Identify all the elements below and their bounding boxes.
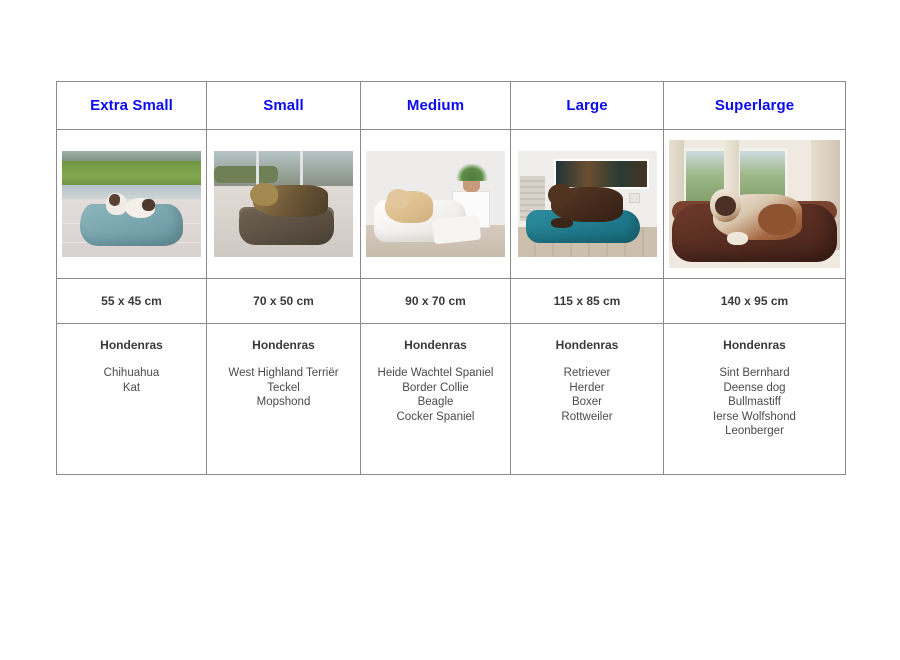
- product-photo-medium: [366, 151, 505, 257]
- header-cell-large: Large: [511, 82, 664, 130]
- dimensions-label: 70 x 50 cm: [207, 294, 360, 308]
- breeds-title: Hondenras: [207, 338, 360, 352]
- header-cell-superlarge: Superlarge: [664, 82, 846, 130]
- breed-item: Rottweiler: [511, 410, 663, 425]
- dimensions-cell-large: 115 x 85 cm: [511, 279, 664, 324]
- photo-cell-small: [207, 130, 361, 279]
- breed-item: Sint Bernhard: [664, 366, 845, 381]
- breeds-list: RetrieverHerderBoxerRottweiler: [511, 366, 663, 424]
- dimensions-cell-small: 70 x 50 cm: [207, 279, 361, 324]
- header-cell-medium: Medium: [361, 82, 511, 130]
- size-header-label: Small: [207, 97, 360, 114]
- breed-item: Chihuahua: [57, 366, 206, 381]
- breed-item: Mopshond: [207, 395, 360, 410]
- table-photo-row: [57, 130, 846, 279]
- table-header-row: Extra Small Small Medium Large Superlarg…: [57, 82, 846, 130]
- breeds-cell-small: Hondenras West Highland TerriërTeckelMop…: [207, 324, 361, 475]
- breed-item: Deense dog: [664, 381, 845, 396]
- breed-item: Retriever: [511, 366, 663, 381]
- dimensions-label: 115 x 85 cm: [511, 294, 663, 308]
- breeds-title: Hondenras: [57, 338, 206, 352]
- dog-bed-size-table: Extra Small Small Medium Large Superlarg…: [56, 81, 846, 475]
- breeds-list: Heide Wachtel SpanielBorder CollieBeagle…: [361, 366, 510, 424]
- breeds-title: Hondenras: [664, 338, 845, 352]
- table-dimensions-row: 55 x 45 cm 70 x 50 cm 90 x 70 cm 115 x 8…: [57, 279, 846, 324]
- breed-item: Boxer: [511, 395, 663, 410]
- dimensions-label: 140 x 95 cm: [664, 294, 845, 308]
- breed-item: Kat: [57, 381, 206, 396]
- breeds-title: Hondenras: [511, 338, 663, 352]
- dimensions-cell-extra-small: 55 x 45 cm: [57, 279, 207, 324]
- breeds-cell-large: Hondenras RetrieverHerderBoxerRottweiler: [511, 324, 664, 475]
- product-photo-large: [518, 151, 657, 257]
- header-cell-small: Small: [207, 82, 361, 130]
- breed-item: Border Collie: [361, 381, 510, 396]
- table-breeds-row: Hondenras ChihuahuaKat Hondenras West Hi…: [57, 324, 846, 475]
- breeds-title: Hondenras: [361, 338, 510, 352]
- dimensions-label: 55 x 45 cm: [57, 294, 206, 308]
- breeds-cell-superlarge: Hondenras Sint BernhardDeense dogBullmas…: [664, 324, 846, 475]
- breeds-list: West Highland TerriërTeckelMopshond: [207, 366, 360, 410]
- size-header-label: Medium: [361, 97, 510, 114]
- photo-cell-large: [511, 130, 664, 279]
- breed-item: Heide Wachtel Spaniel: [361, 366, 510, 381]
- dimensions-cell-superlarge: 140 x 95 cm: [664, 279, 846, 324]
- header-cell-extra-small: Extra Small: [57, 82, 207, 130]
- product-photo-extra-small: [62, 151, 201, 257]
- product-photo-superlarge: [669, 140, 840, 268]
- size-header-label: Large: [511, 97, 663, 114]
- breeds-list: ChihuahuaKat: [57, 366, 206, 395]
- dimensions-label: 90 x 70 cm: [361, 294, 510, 308]
- photo-cell-medium: [361, 130, 511, 279]
- product-photo-small: [214, 151, 353, 257]
- size-header-label: Extra Small: [57, 97, 206, 114]
- photo-cell-superlarge: [664, 130, 846, 279]
- photo-cell-extra-small: [57, 130, 207, 279]
- breed-item: Leonberger: [664, 424, 845, 439]
- breed-item: Bullmastiff: [664, 395, 845, 410]
- breeds-cell-extra-small: Hondenras ChihuahuaKat: [57, 324, 207, 475]
- breed-item: West Highland Terriër: [207, 366, 360, 381]
- breed-item: Herder: [511, 381, 663, 396]
- breeds-list: Sint BernhardDeense dogBullmastiffIerse …: [664, 366, 845, 439]
- breed-item: Cocker Spaniel: [361, 410, 510, 425]
- dimensions-cell-medium: 90 x 70 cm: [361, 279, 511, 324]
- breed-item: Teckel: [207, 381, 360, 396]
- breed-item: Beagle: [361, 395, 510, 410]
- breed-item: Ierse Wolfshond: [664, 410, 845, 425]
- breeds-cell-medium: Hondenras Heide Wachtel SpanielBorder Co…: [361, 324, 511, 475]
- size-header-label: Superlarge: [664, 97, 845, 114]
